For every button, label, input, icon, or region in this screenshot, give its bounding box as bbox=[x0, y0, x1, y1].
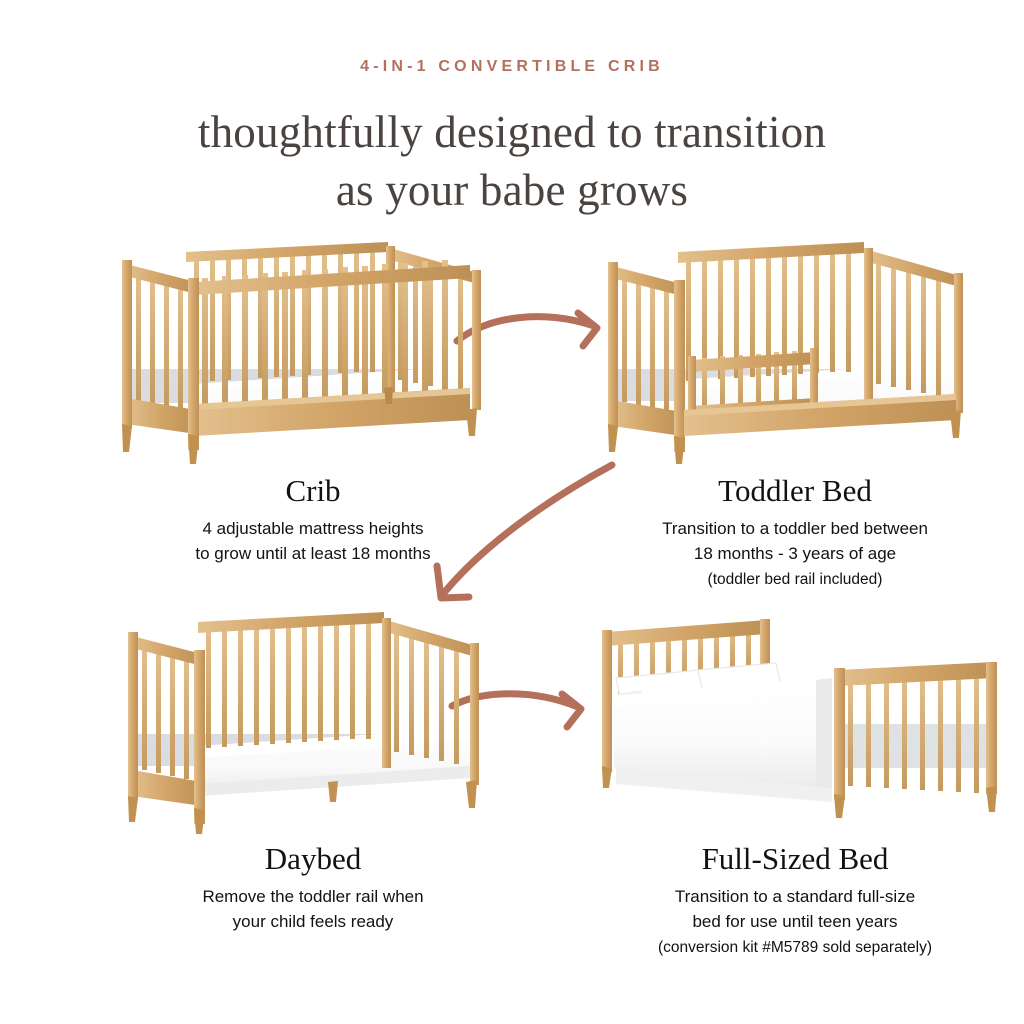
toddler-bed-illustration bbox=[580, 238, 1010, 468]
page-title: thoughtfully designed to transition as y… bbox=[0, 104, 1024, 219]
stage-note: (conversion kit #M5789 sold separately) bbox=[580, 937, 1010, 960]
headline-line-1: thoughtfully designed to transition bbox=[0, 104, 1024, 162]
stage-title-full-sized-bed: Full-Sized Bed bbox=[580, 842, 1010, 876]
desc-line: 18 months - 3 years of age bbox=[580, 542, 1010, 567]
stage-description-crib: 4 adjustable mattress heights to grow un… bbox=[98, 517, 528, 567]
stage-description-daybed: Remove the toddler rail when your child … bbox=[98, 885, 528, 935]
desc-line: your child feels ready bbox=[98, 910, 528, 935]
stage-title-crib: Crib bbox=[98, 474, 528, 508]
stage-card-full-sized-bed: Full-Sized Bed Transition to a standard … bbox=[580, 606, 1010, 959]
stage-card-toddler-bed: Toddler Bed Transition to a toddler bed … bbox=[580, 238, 1010, 591]
desc-line: 4 adjustable mattress heights bbox=[98, 517, 528, 542]
stage-card-crib: Crib 4 adjustable mattress heights to gr… bbox=[98, 238, 528, 567]
stage-description-toddler-bed: Transition to a toddler bed between 18 m… bbox=[580, 517, 1010, 591]
stage-card-daybed: Daybed Remove the toddler rail when your… bbox=[98, 606, 528, 935]
eyebrow-label: 4-IN-1 CONVERTIBLE CRIB bbox=[0, 58, 1024, 76]
desc-line: Transition to a toddler bed between bbox=[580, 517, 1010, 542]
stage-note: (toddler bed rail included) bbox=[580, 569, 1010, 592]
headline-line-2: as your babe grows bbox=[0, 162, 1024, 220]
full-sized-bed-illustration bbox=[580, 606, 1010, 836]
desc-line: bed for use until teen years bbox=[580, 910, 1010, 935]
stage-title-daybed: Daybed bbox=[98, 842, 528, 876]
stage-title-toddler-bed: Toddler Bed bbox=[580, 474, 1010, 508]
crib-illustration bbox=[98, 238, 528, 468]
desc-line: to grow until at least 18 months bbox=[98, 542, 528, 567]
daybed-illustration bbox=[98, 606, 528, 836]
desc-line: Transition to a standard full-size bbox=[580, 885, 1010, 910]
stage-description-full-sized-bed: Transition to a standard full-size bed f… bbox=[580, 885, 1010, 959]
desc-line: Remove the toddler rail when bbox=[98, 885, 528, 910]
infographic-page: 4-IN-1 CONVERTIBLE CRIB thoughtfully des… bbox=[0, 0, 1024, 1024]
